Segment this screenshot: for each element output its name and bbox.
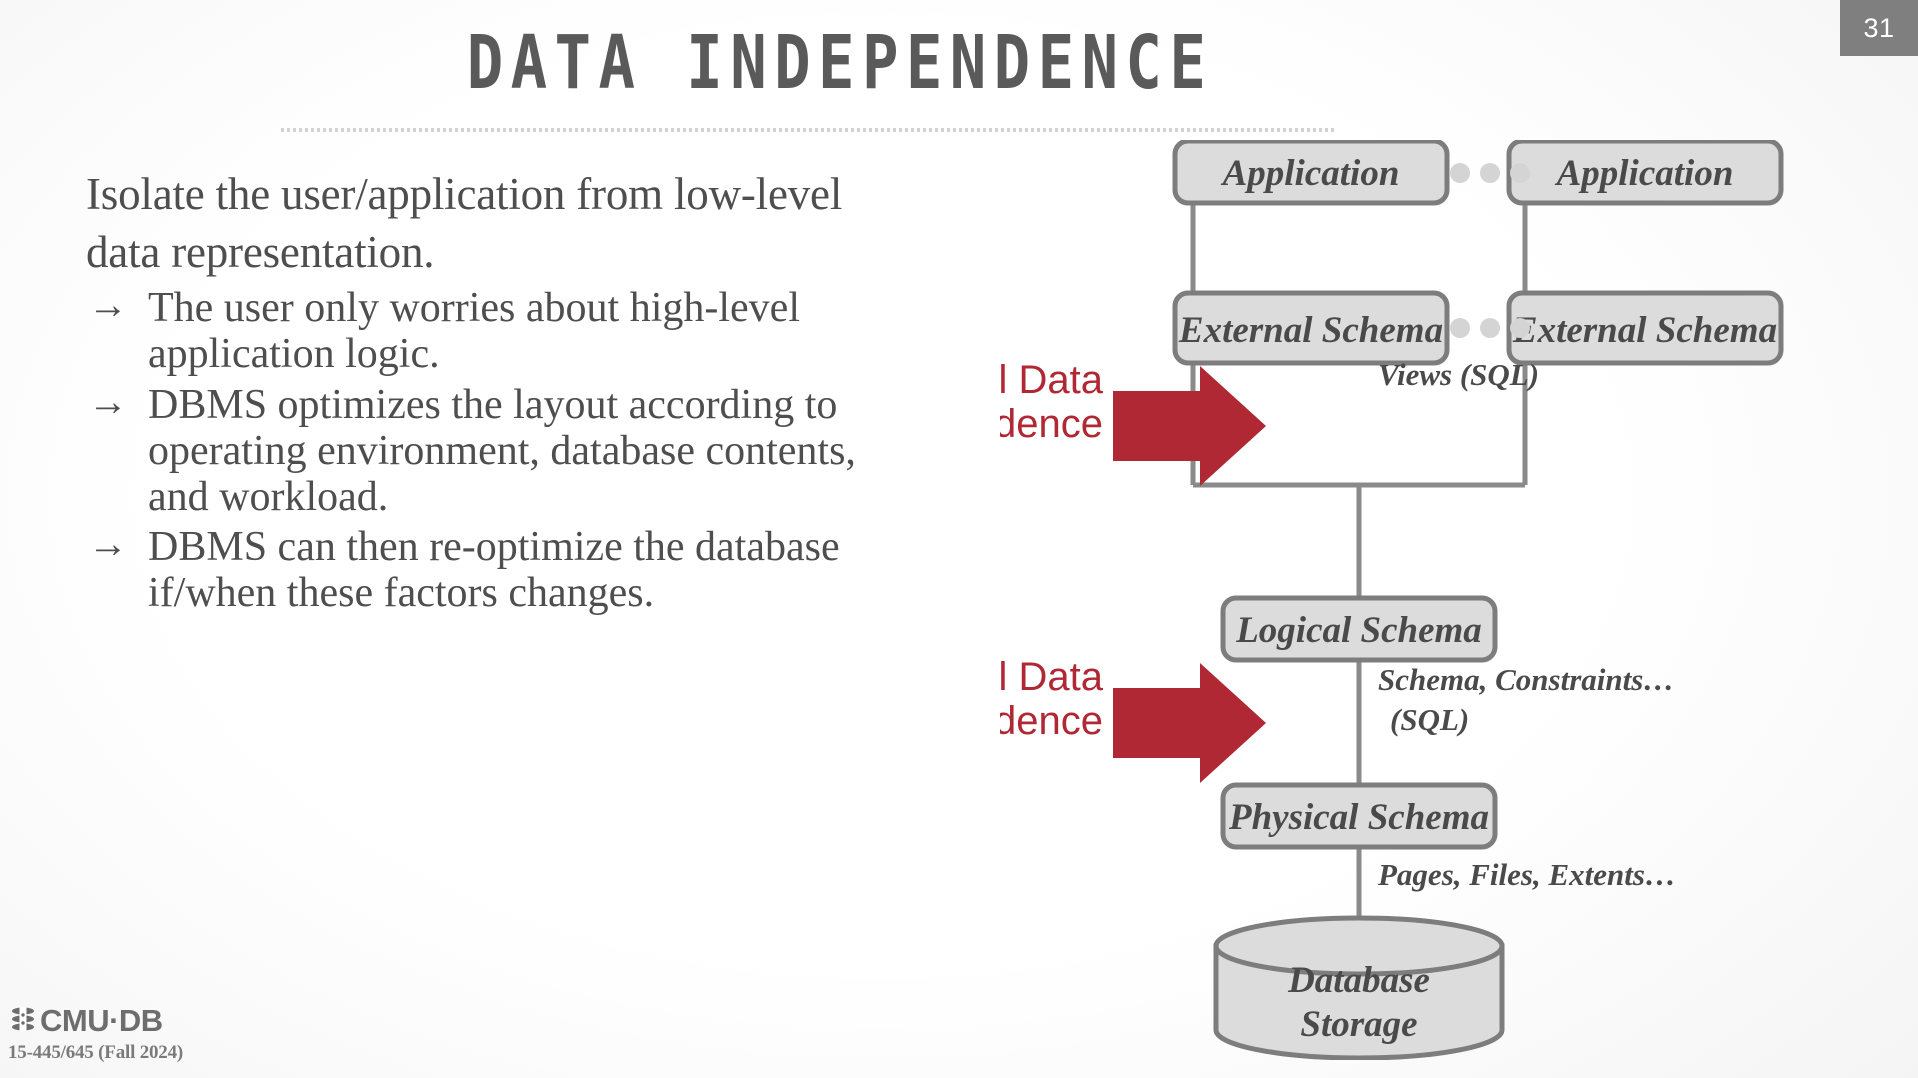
lead-paragraph: Isolate the user/application from low-le… (86, 166, 876, 281)
box-logical-schema-label: Logical Schema (1235, 610, 1482, 651)
list-item-text: DBMS optimizes the layout according to o… (148, 382, 856, 520)
page-number-text: 31 (1863, 13, 1894, 44)
physical-data-independence-arrow (1113, 663, 1266, 783)
data-independence-diagram: .bx { fill:#dcdcdc; stroke:#7d7d7d; stro… (1000, 140, 1918, 1060)
list-item-text: DBMS can then re-optimize the database i… (148, 524, 840, 616)
list-item: → DBMS can then re-optimize the database… (86, 524, 876, 616)
box-external-schema-right-label: External Schema (1512, 310, 1777, 351)
physical-data-independence-label-line1: Physical Data (1000, 655, 1104, 699)
slide-canvas: 31 DATA INDEPENDENCE Isolate the user/ap… (0, 0, 1918, 1078)
page-number-badge: 31 (1840, 0, 1918, 56)
box-application-right-label: Application (1555, 153, 1734, 194)
arrow-bullet-icon: → (88, 522, 128, 566)
title-divider (281, 128, 1335, 132)
ellipsis-icon-external-schemas (1450, 318, 1530, 338)
box-database-storage-label-line2: Storage (1300, 1004, 1417, 1045)
ellipsis-icon-applications (1450, 163, 1530, 183)
box-external-schema-left-label: External Schema (1178, 310, 1443, 351)
logical-data-independence-label-line1: Logical Data (1000, 358, 1104, 402)
logo-wordmark: CMU·DB (40, 1003, 163, 1039)
logical-data-independence-label-line2: Independence (1000, 402, 1103, 446)
box-physical-schema-label: Physical Schema (1228, 797, 1489, 838)
annotation-views-sql: Views (SQL) (1378, 357, 1539, 392)
logo-row: CMU·DB (8, 1003, 183, 1039)
body-column: Isolate the user/application from low-le… (86, 166, 876, 621)
list-item: → The user only worries about high-level… (86, 285, 876, 377)
logical-data-independence-arrow (1113, 366, 1266, 486)
arrow-bullet-icon: → (88, 283, 128, 327)
box-database-storage-label-line1: Database (1287, 960, 1430, 1001)
page-title: DATA INDEPENDENCE (151, 20, 1529, 106)
physical-data-independence-label-line2: Independence (1000, 699, 1103, 743)
annotation-pages-files-extents: Pages, Files, Extents… (1377, 857, 1676, 892)
bullet-list: → The user only worries about high-level… (86, 285, 876, 616)
database-disk-icon (8, 1004, 38, 1039)
arrow-bullet-icon: → (88, 380, 128, 424)
list-item: → DBMS optimizes the layout according to… (86, 382, 876, 521)
footer-logo: CMU·DB 15-445/645 (Fall 2024) (8, 1003, 183, 1064)
box-application-left-label: Application (1221, 153, 1400, 194)
list-item-text: The user only worries about high-level a… (148, 285, 800, 377)
annotation-schema-constraints-line2: (SQL) (1390, 702, 1469, 737)
course-label: 15-445/645 (Fall 2024) (8, 1042, 183, 1064)
annotation-schema-constraints-line1: Schema, Constraints… (1378, 662, 1674, 697)
